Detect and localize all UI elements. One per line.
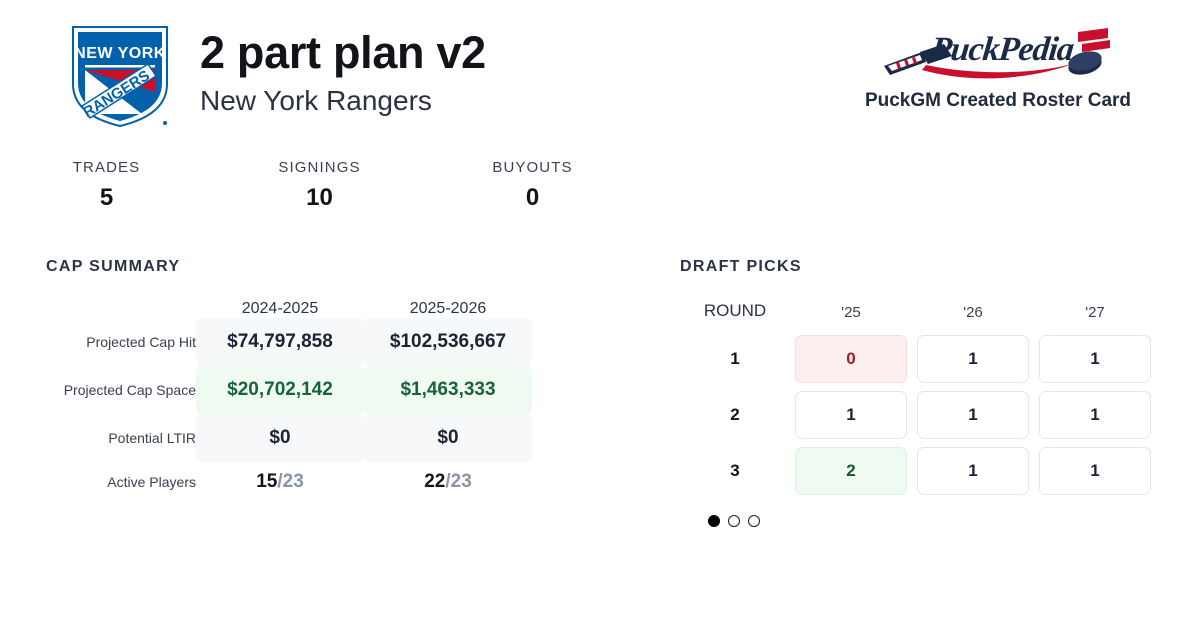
active-players-max: /23 (445, 471, 471, 493)
draft-round-number: 3 (680, 443, 790, 499)
brand-block: PuckPedia PuckGM Created Roster Card (848, 22, 1148, 112)
stat-trades: TRADES 5 (0, 158, 213, 214)
stat-label: TRADES (0, 158, 213, 178)
team-name: New York Rangers (200, 84, 486, 118)
summary-stats: TRADES 5 SIGNINGS 10 BUYOUTS 0 (0, 158, 640, 214)
table-row: 1 0 1 1 (680, 331, 1156, 387)
cap-value-cell: $20,702,142 (196, 366, 364, 414)
brand-caption: PuckGM Created Roster Card (848, 90, 1148, 112)
stat-value: 0 (426, 182, 639, 214)
cap-summary-title: CAP SUMMARY (46, 258, 546, 276)
cap-row-label: Potential LTIR (46, 414, 196, 462)
stat-buyouts: BUYOUTS 0 (426, 158, 639, 214)
draft-header-row: ROUND '25 '26 '27 (680, 300, 1156, 331)
cap-summary-header-row: 2024-2025 2025-2026 (46, 300, 532, 318)
table-row: Projected Cap Hit $74,797,858 $102,536,6… (46, 318, 532, 366)
cap-value-cell: $0 (364, 414, 532, 462)
stat-signings: SIGNINGS 10 (213, 158, 426, 214)
active-players-count: 22 (424, 471, 445, 493)
draft-pick-cell: 1 (917, 447, 1029, 495)
draft-round-number: 1 (680, 331, 790, 387)
draft-pick-cell: 1 (917, 391, 1029, 439)
pagination-dot-1[interactable] (708, 515, 720, 527)
draft-pick-cell: 1 (1039, 335, 1151, 383)
cap-summary-table: 2024-2025 2025-2026 Projected Cap Hit $7… (46, 300, 532, 502)
table-row: 2 1 1 1 (680, 387, 1156, 443)
draft-pick-cell: 1 (1039, 447, 1151, 495)
draft-pick-cell: 1 (795, 391, 907, 439)
cap-row-label: Projected Cap Hit (46, 318, 196, 366)
draft-year-header: '25 (790, 300, 912, 331)
title-block: 2 part plan v2 New York Rangers (200, 24, 486, 118)
draft-pick-cell: 0 (795, 335, 907, 383)
table-row: Potential LTIR $0 $0 (46, 414, 532, 462)
draft-pick-cell: 1 (917, 335, 1029, 383)
table-row: 3 2 1 1 (680, 443, 1156, 499)
stat-value: 10 (213, 182, 426, 214)
puckpedia-logo: PuckPedia (882, 22, 1114, 84)
active-players-count: 15 (256, 471, 277, 493)
draft-picks-table: ROUND '25 '26 '27 1 0 1 1 2 1 1 (680, 300, 1156, 499)
card-header: NEW YORK RANGERS 2 part plan v2 New York… (0, 0, 1200, 140)
cap-row-label: Active Players (46, 462, 196, 502)
cap-value-cell: 22/23 (364, 462, 532, 502)
draft-picks-section: DRAFT PICKS ROUND '25 '26 '27 1 0 1 1 2 … (680, 258, 1160, 527)
draft-year-header: '26 (912, 300, 1034, 331)
svg-text:PuckPedia: PuckPedia (928, 31, 1076, 68)
cap-value-cell: 15/23 (196, 462, 364, 502)
draft-round-number: 2 (680, 387, 790, 443)
cap-summary-year-header: 2024-2025 (196, 300, 364, 318)
cap-value-cell: $0 (196, 414, 364, 462)
pagination-dots[interactable] (708, 515, 1160, 527)
cap-summary-year-header: 2025-2026 (364, 300, 532, 318)
cap-row-label: Projected Cap Space (46, 366, 196, 414)
cap-summary-corner (46, 300, 196, 318)
active-players-max: /23 (277, 471, 303, 493)
draft-year-header: '27 (1034, 300, 1156, 331)
pagination-dot-2[interactable] (728, 515, 740, 527)
stat-label: SIGNINGS (213, 158, 426, 178)
page-title: 2 part plan v2 (200, 24, 486, 82)
stat-value: 5 (0, 182, 213, 214)
draft-pick-cell: 1 (1039, 391, 1151, 439)
cap-value-cell: $74,797,858 (196, 318, 364, 366)
cap-value-cell: $102,536,667 (364, 318, 532, 366)
table-row: Active Players 15/23 22/23 (46, 462, 532, 502)
draft-round-header: ROUND (680, 300, 790, 331)
draft-pick-cell: 2 (795, 447, 907, 495)
stat-label: BUYOUTS (426, 158, 639, 178)
new-york-rangers-logo: NEW YORK RANGERS (68, 22, 172, 130)
draft-picks-title: DRAFT PICKS (680, 258, 1160, 276)
pagination-dot-3[interactable] (748, 515, 760, 527)
cap-value-cell: $1,463,333 (364, 366, 532, 414)
table-row: Projected Cap Space $20,702,142 $1,463,3… (46, 366, 532, 414)
svg-text:NEW YORK: NEW YORK (74, 45, 166, 62)
cap-summary-section: CAP SUMMARY 2024-2025 2025-2026 Projecte… (46, 258, 546, 502)
